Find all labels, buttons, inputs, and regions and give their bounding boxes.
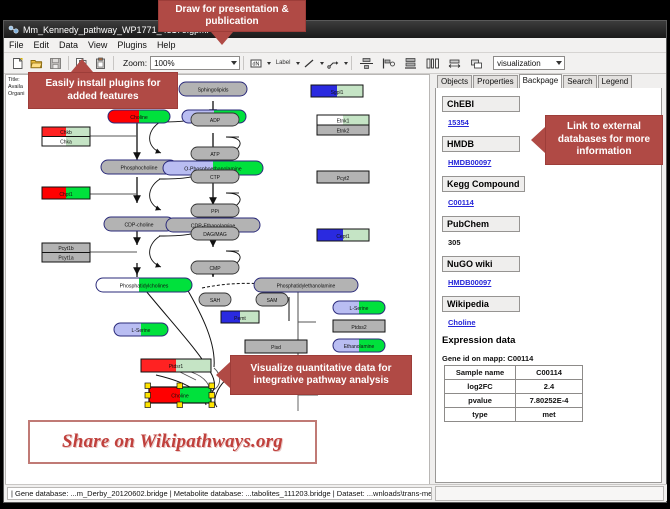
gene-box-chkb-chka[interactable]: Chkb Chka xyxy=(42,127,90,146)
db-name-kegg: Kegg Compound xyxy=(442,176,525,192)
svg-text:Phosphocholine: Phosphocholine xyxy=(121,166,158,172)
node-sam[interactable]: SAM xyxy=(256,293,288,306)
svg-text:Phosphatidylethanolamine: Phosphatidylethanolamine xyxy=(277,284,336,290)
db-name-nugo: NuGO wiki xyxy=(442,256,520,272)
node-adp[interactable]: ADP xyxy=(191,113,239,126)
tab-properties[interactable]: Properties xyxy=(473,75,517,88)
svg-text:SAM: SAM xyxy=(267,298,278,304)
share-callout: Share on Wikipathways.org xyxy=(28,420,317,464)
node-phosphatidylcholines[interactable]: Phosphatidylcholines xyxy=(96,278,192,292)
menu-item-file[interactable]: File xyxy=(4,40,29,50)
db-link-wikipedia[interactable]: Choline xyxy=(448,318,476,327)
node-choline-top[interactable]: Choline xyxy=(108,110,170,123)
expression-data-heading: Expression data xyxy=(442,335,661,346)
panel-tabs: Objects Properties Backpage Search Legen… xyxy=(437,75,633,88)
callout-visualize: Visualize quantitative data for integrat… xyxy=(230,355,412,395)
svg-text:Chkb: Chkb xyxy=(60,130,72,136)
svg-text:CDP-choline: CDP-choline xyxy=(124,223,153,229)
toolbar-separator xyxy=(351,56,352,70)
pathvisio-icon xyxy=(8,24,19,35)
svg-text:Pcyt2: Pcyt2 xyxy=(337,176,350,182)
db-entry-kegg: Kegg Compound C00114 xyxy=(442,174,661,210)
open-folder-icon[interactable] xyxy=(28,55,45,72)
new-file-icon[interactable] xyxy=(9,55,26,72)
expr-key-type: type xyxy=(445,408,516,422)
expr-value-type: met xyxy=(516,408,583,422)
svg-text:Phosphatidylcholines: Phosphatidylcholines xyxy=(120,284,169,290)
callout-visualize-arrow xyxy=(216,362,230,388)
zoom-combo[interactable]: 100% xyxy=(150,56,240,70)
svg-text:Cept1: Cept1 xyxy=(336,234,350,240)
node-sphingolipids[interactable]: Sphingolipids xyxy=(179,82,247,96)
menu-item-edit[interactable]: Edit xyxy=(29,40,55,50)
chevron-down-icon[interactable] xyxy=(296,62,300,65)
expr-value-sample-name: C00114 xyxy=(516,366,583,380)
node-l-serine-right[interactable]: L-Serine xyxy=(333,301,385,314)
svg-text:Ethanolamine: Ethanolamine xyxy=(344,344,375,350)
label-tool-icon[interactable]: Label xyxy=(272,55,294,72)
tab-objects[interactable]: Objects xyxy=(437,75,472,88)
svg-text:Choline: Choline xyxy=(171,394,189,400)
svg-text:Chka: Chka xyxy=(60,140,72,146)
expression-table: Sample name C00114 log2FC 2.4 pvalue 7.8… xyxy=(444,365,583,422)
tab-search[interactable]: Search xyxy=(563,75,596,88)
tab-legend[interactable]: Legend xyxy=(598,75,633,88)
db-entry-pubchem: PubChem 305 xyxy=(442,214,661,250)
node-choline-selected[interactable]: Choline xyxy=(145,383,215,408)
chevron-down-icon[interactable] xyxy=(344,62,348,65)
svg-text:DAG/MAG: DAG/MAG xyxy=(203,232,227,238)
expr-value-log2fc: 2.4 xyxy=(516,380,583,394)
expr-key-pvalue: pvalue xyxy=(445,394,516,408)
align-center-icon[interactable] xyxy=(356,55,376,72)
table-row: pvalue 7.80252E-4 xyxy=(445,394,583,408)
datanode-icon[interactable]: dN xyxy=(248,55,265,72)
visualization-combo[interactable]: visualization xyxy=(493,56,565,70)
svg-text:dN: dN xyxy=(253,61,260,67)
callout-plugins: Easily install plugins for added feature… xyxy=(28,72,178,109)
gene-id-label: Gene id on mapp: C00114 xyxy=(442,354,661,363)
gene-box-chpt1[interactable]: Chpt1 xyxy=(42,187,90,199)
callout-links: Link to external databases for more info… xyxy=(545,115,663,165)
svg-text:L-Serine: L-Serine xyxy=(132,328,151,334)
save-icon[interactable] xyxy=(47,55,64,72)
zoom-label: Zoom: xyxy=(123,58,147,68)
db-entry-wikipedia: Wikipedia Choline xyxy=(442,294,661,330)
zoom-value: 100% xyxy=(154,59,174,68)
chevron-down-icon[interactable] xyxy=(267,62,271,65)
node-cmp[interactable]: CMP xyxy=(191,261,239,274)
status-bar: | Gene database: ...m_Derby_20120602.bri… xyxy=(5,484,667,501)
expr-key-sample-name: Sample name xyxy=(445,366,516,380)
callout-draw-arrow xyxy=(211,32,233,45)
svg-text:Chpt1: Chpt1 xyxy=(59,192,73,198)
toolbar-separator xyxy=(243,56,244,70)
gene-box-pisd[interactable]: Pisd xyxy=(245,340,307,353)
svg-text:Sgpl1: Sgpl1 xyxy=(331,90,344,96)
svg-text:Ptdsr1: Ptdsr1 xyxy=(169,364,184,370)
db-name-wikipedia: Wikipedia xyxy=(442,296,520,312)
tab-backpage[interactable]: Backpage xyxy=(519,74,563,88)
node-sah[interactable]: SAH xyxy=(199,293,231,306)
node-phosphatidylethanolamine[interactable]: Phosphatidylethanolamine xyxy=(254,278,358,292)
table-row: log2FC 2.4 xyxy=(445,380,583,394)
db-name-hmdb: HMDB xyxy=(442,136,520,152)
svg-text:L-Serine: L-Serine xyxy=(350,306,369,312)
expr-key-log2fc: log2FC xyxy=(445,380,516,394)
tool-bar: Zoom: 100% dN Label xyxy=(4,53,666,74)
visualization-value: visualization xyxy=(497,59,541,68)
chevron-down-icon[interactable] xyxy=(320,62,324,65)
svg-text:Choline: Choline xyxy=(130,115,148,121)
distribute-horizontal-icon[interactable] xyxy=(422,55,442,72)
table-row: type met xyxy=(445,408,583,422)
menu-item-plugins[interactable]: Plugins xyxy=(112,40,152,50)
node-ctp[interactable]: CTP xyxy=(191,170,239,183)
chevron-down-icon xyxy=(231,61,237,65)
svg-text:Pcyt1a: Pcyt1a xyxy=(58,256,74,262)
menu-item-view[interactable]: View xyxy=(83,40,112,50)
line-tool-icon[interactable] xyxy=(301,55,318,72)
gene-box-cept1[interactable]: Cept1 xyxy=(317,229,369,241)
toolbar-separator xyxy=(113,56,114,70)
node-atp[interactable]: ATP xyxy=(191,147,239,160)
node-ppi[interactable]: PPi xyxy=(191,204,239,217)
svg-text:CMP: CMP xyxy=(209,266,221,272)
gene-box-ptdsr1[interactable]: Ptdsr1 xyxy=(141,359,211,372)
svg-text:SAH: SAH xyxy=(210,298,221,304)
title-bar: Mm_Kennedy_pathway_WP1771_45176.gpml xyxy=(4,21,666,38)
db-value-pubchem: 305 xyxy=(448,238,461,247)
svg-text:Etnk1: Etnk1 xyxy=(337,119,350,125)
same-width-icon[interactable] xyxy=(444,55,464,72)
gene-box-pemt[interactable]: Pemt xyxy=(221,311,259,323)
chevron-down-icon xyxy=(556,61,562,65)
gene-box-pcyt1b-pcyt1a[interactable]: Pcyt1b Pcyt1a xyxy=(42,243,90,262)
svg-text:Pcyt1b: Pcyt1b xyxy=(58,246,74,252)
align-bottom-icon[interactable] xyxy=(400,55,420,72)
gene-box-etnk1-etnk2[interactable]: Etnk1 Etnk2 xyxy=(317,115,369,135)
db-link-nugo[interactable]: HMDB00097 xyxy=(448,278,491,287)
arrow-tool-icon[interactable] xyxy=(325,55,342,72)
svg-text:PPi: PPi xyxy=(211,209,219,215)
table-row: Sample name C00114 xyxy=(445,366,583,380)
gene-box-ptdss2[interactable]: Ptdss2 xyxy=(333,320,385,332)
node-cdp-choline[interactable]: CDP-choline xyxy=(104,217,174,231)
callout-plugins-arrow xyxy=(71,59,93,72)
status-text: | Gene database: ...m_Derby_20120602.bri… xyxy=(7,487,432,500)
label-tool-text: Label xyxy=(276,60,291,66)
svg-text:Pemt: Pemt xyxy=(234,316,246,322)
db-name-chebi: ChEBI xyxy=(442,96,520,112)
share-callout-text: Share on Wikipathways.org xyxy=(62,431,283,453)
gene-box-pcyt2[interactable]: Pcyt2 xyxy=(317,171,369,183)
svg-text:Pisd: Pisd xyxy=(271,345,281,351)
screenshot-root: Mm_Kennedy_pathway_WP1771_45176.gpml Fil… xyxy=(0,0,670,509)
node-ethanolamine-right[interactable]: Ethanolamine xyxy=(333,339,385,352)
gene-box-sgpl1[interactable]: Sgpl1 xyxy=(311,85,363,97)
db-link-hmdb[interactable]: HMDB00097 xyxy=(448,158,491,167)
node-dagmag[interactable]: DAG/MAG xyxy=(191,227,239,240)
expr-value-pvalue: 7.80252E-4 xyxy=(516,394,583,408)
db-link-chebi[interactable]: 15354 xyxy=(448,118,469,127)
svg-text:ADP: ADP xyxy=(210,118,221,124)
node-l-serine-left[interactable]: L-Serine xyxy=(114,323,168,336)
menu-bar: File Edit Data View Plugins Help xyxy=(4,38,666,53)
status-secondary-field xyxy=(435,486,664,501)
db-link-kegg[interactable]: C00114 xyxy=(448,198,474,207)
db-entry-nugo: NuGO wiki HMDB00097 xyxy=(442,254,661,290)
align-left-icon[interactable] xyxy=(378,55,398,72)
menu-item-data[interactable]: Data xyxy=(54,40,83,50)
toolbar-separator xyxy=(68,56,69,70)
db-name-pubchem: PubChem xyxy=(442,216,520,232)
paste-icon[interactable] xyxy=(92,55,109,72)
svg-text:Etnk2: Etnk2 xyxy=(337,129,350,135)
callout-links-arrow xyxy=(531,127,545,153)
svg-text:Ptdss2: Ptdss2 xyxy=(351,325,367,331)
svg-text:Sphingolipids: Sphingolipids xyxy=(198,88,229,94)
callout-draw: Draw for presentation & publication xyxy=(158,0,306,32)
menu-item-help[interactable]: Help xyxy=(152,40,181,50)
svg-text:ATP: ATP xyxy=(210,152,220,158)
bring-front-icon[interactable] xyxy=(466,55,486,72)
svg-text:CTP: CTP xyxy=(210,175,221,181)
